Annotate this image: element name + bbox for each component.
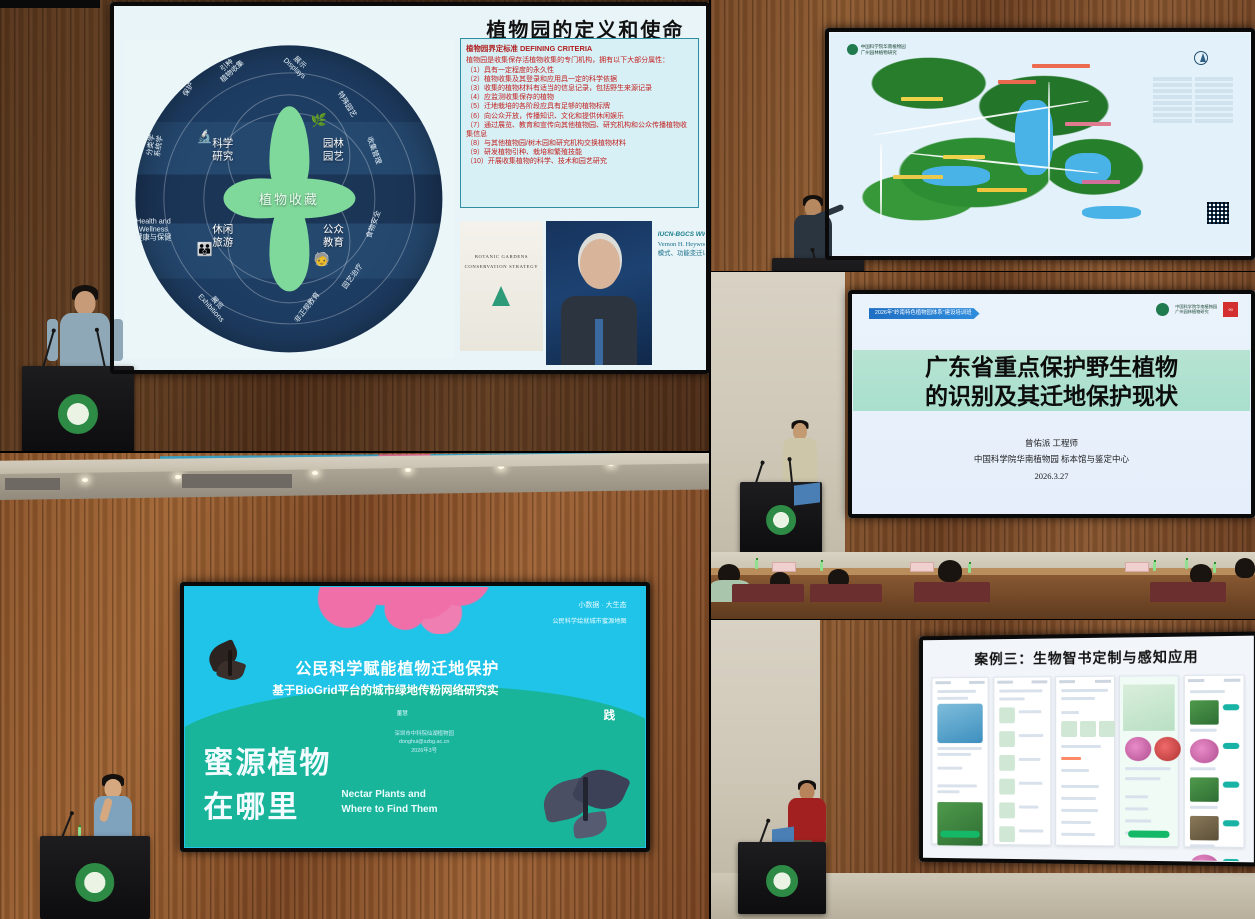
- screen-slide-definition: 植物园的定义和使命 植物收藏 科学研究: [110, 2, 710, 374]
- quadrant-education: 公众教育: [323, 223, 344, 249]
- slide4-date: 2026年3号: [369, 747, 479, 755]
- map-site-label: [901, 97, 943, 101]
- screen-case-three: 案例三：生物智书定制与感知应用: [919, 632, 1255, 867]
- criteria-item: （7）通过展览、教育和宣传向其他植物园、研究机构和公众传播植物收集信息: [466, 121, 693, 139]
- species-thumb: [999, 827, 1015, 843]
- phone-map-view: [1123, 685, 1175, 732]
- presentation-date: 2026.3.27: [853, 468, 1250, 485]
- collage-seam-vertical: [709, 0, 711, 919]
- ceiling-light: [82, 478, 88, 482]
- species-thumb: [999, 755, 1015, 771]
- map-site-label: [943, 155, 985, 159]
- slide4-heading: 公民科学赋能植物迁地保护: [295, 655, 499, 679]
- slide4-meta: 深圳市中科院仙湖植物园 donghui@szbg.ac.cn 2026年3号: [369, 730, 479, 755]
- logo-mark: [847, 44, 858, 55]
- podium-bottom-right: [738, 842, 826, 914]
- butterfly-icon-left: [208, 644, 260, 688]
- compass-icon: [1194, 51, 1208, 65]
- flower-photo: [1125, 737, 1151, 761]
- phone-mockup-species-list[interactable]: [993, 677, 1051, 846]
- collage-seam-horizontal-left: [0, 451, 710, 453]
- speaker-head: [75, 291, 96, 315]
- slide-title: 广东省重点保护野生植物 的识别及其迁地保护现状: [853, 353, 1250, 412]
- identify-result: [1062, 721, 1078, 737]
- panel-bottom-left: 小数据 · 大生态 公民科学绘就城市蜜源地图 公民科学赋能植物迁地保护 基于Bi…: [0, 452, 710, 919]
- ceiling-vent: [182, 474, 292, 488]
- criteria-item: （6）向公众开放，传播知识、文化和提供休闲娱乐: [466, 112, 693, 121]
- ceiling-light: [405, 468, 411, 472]
- phone-mockup-map-record[interactable]: [1119, 676, 1179, 847]
- criteria-item: （8）与其他植物园/树木园和研究机构交换植物材料: [466, 139, 693, 148]
- logo-text: 中国科学院华南植物园广州园林植物研究: [861, 44, 906, 55]
- map-site-label: [1032, 64, 1091, 68]
- slide1-diagram: 植物收藏 科学研究 园林园艺 休闲旅游 公众教育 🔬 🌿 👪 🧓 引种植物收集 …: [124, 40, 454, 359]
- collection-photo: [1190, 778, 1219, 803]
- diagram-center-label: 植物收藏: [259, 189, 319, 208]
- slide4-subheading-tail: 践: [604, 707, 616, 723]
- ring-label-taxonomy: 分类学系统学: [146, 134, 165, 158]
- phone-mockup-row: [932, 675, 1244, 848]
- anniversary-badge-icon: 90: [1223, 302, 1238, 317]
- qr-code-icon: [1207, 202, 1229, 224]
- chair-back: [810, 584, 882, 602]
- laptop-screen: [794, 482, 820, 505]
- map-legend: [1153, 77, 1233, 125]
- map-site-label: [1065, 122, 1111, 126]
- caption-text: Vernon H. Heywood（1927-）植物园历史、发展阶段与模式、功能…: [658, 241, 705, 258]
- criteria-item: （4）应监测收集保存的植物: [466, 93, 693, 102]
- chair-back: [914, 582, 990, 602]
- criteria-item: （10）开展收集植物的科学、技术和园艺研究: [466, 157, 693, 166]
- collection-photo: [1190, 739, 1219, 763]
- audience-member: [938, 560, 962, 582]
- criteria-item: （2）植物收集及其登录和应用具一定的科学依据: [466, 75, 693, 84]
- diagram-outer-circle: 植物收藏 科学研究 园林园艺 休闲旅游 公众教育 🔬 🌿 👪 🧓 引种植物收集 …: [135, 45, 442, 352]
- training-ribbon: 2026年"岭南特色植物园体系"建设培训班: [869, 308, 980, 319]
- heywood-photo: [546, 221, 652, 366]
- map-site-label: [998, 80, 1036, 84]
- map-path-4: [1048, 82, 1050, 184]
- flower-photo: [1154, 737, 1180, 761]
- water-bottle: [1213, 564, 1216, 573]
- microscope-icon: 🔬: [197, 128, 213, 144]
- slide4-affiliation: 深圳市中科院仙湖植物园: [369, 730, 479, 738]
- criteria-heading: 植物园界定标准 DEFINING CRITERIA: [466, 43, 693, 54]
- slide4-corner-top: 小数据 · 大生态: [578, 600, 626, 610]
- quadrant-leisure: 休闲旅游: [212, 223, 233, 249]
- screen-nectar-plants: 小数据 · 大生态 公民科学绘就城市蜜源地图 公民科学赋能植物迁地保护 基于Bi…: [180, 582, 650, 852]
- flower-blob-decoration: [305, 587, 498, 634]
- phone-mockup-identify[interactable]: [1056, 676, 1115, 846]
- collection-photo: [1190, 816, 1219, 841]
- slide4-subheading: 基于BioGrid平台的城市绿地传粉网络研究实: [272, 682, 498, 698]
- phone-mockup-feed[interactable]: [932, 677, 989, 844]
- leaf-icon: 🌿: [311, 113, 327, 129]
- audience-member: [1190, 564, 1212, 584]
- slide4-author: 董慧: [397, 709, 408, 717]
- ceiling-slab: [0, 0, 100, 8]
- criteria-list: （1）具有一定程度的永久性 （2）植物收集及其登录和应用具一定的科学依据 （3）…: [466, 66, 693, 167]
- water-bottle: [755, 560, 758, 569]
- criteria-lead: 植物园是收集保存活植物收集的专门机构，拥有以下大部分属性：: [466, 55, 693, 65]
- collage-seam-horizontal-right-2: [710, 619, 1255, 620]
- water-bottle: [1153, 562, 1156, 571]
- portrait-tie: [595, 319, 603, 365]
- slide-logos: 中国科学院华南植物园广州园林植物研究 90: [1156, 302, 1238, 317]
- ceiling-light: [312, 471, 318, 475]
- species-thumb: [999, 803, 1015, 819]
- phone-submit-button: [1128, 830, 1170, 837]
- portrait-head: [580, 239, 620, 288]
- slide4-big-line2: 在哪里: [203, 782, 299, 826]
- criteria-item: （5）迁地栽培的各阶段应具有足够的植物标牌: [466, 102, 693, 111]
- caption-source: IUCN-BGCS WWF, 1989: [658, 231, 705, 238]
- collection-photo: [1190, 701, 1219, 725]
- slide4-english-line1: Nectar Plants and: [341, 787, 437, 802]
- action-pill: [1223, 859, 1240, 861]
- photo-caption: IUCN-BGCS WWF, 1989 Vernon H. Heywood（19…: [658, 231, 705, 258]
- collection-photo: [1190, 855, 1219, 862]
- slide-title-line2: 的识别及其迁地保护现状: [853, 382, 1250, 411]
- book-title-line1: BOTANIC GARDENS: [460, 254, 543, 259]
- podium-bottom-left: [40, 836, 150, 919]
- map-site-label: [977, 188, 1027, 192]
- action-pill: [1223, 705, 1240, 711]
- slide5-title: 案例三：生物智书定制与感知应用: [924, 646, 1253, 670]
- map-path-3: [880, 144, 882, 219]
- name-placard: [910, 562, 934, 572]
- phone-hero-image: [938, 704, 984, 744]
- water-bottle: [78, 827, 81, 836]
- ceiling-vent: [5, 478, 60, 490]
- map-stream: [1082, 206, 1141, 219]
- chair-back: [732, 584, 804, 602]
- panel-top-left: 植物园的定义和使命 植物收藏 科学研究: [0, 0, 710, 452]
- tree-icon: [492, 286, 510, 306]
- audience-member: [1235, 558, 1255, 578]
- cas-logo-icon: [1156, 303, 1169, 316]
- map-site-label: [893, 175, 943, 179]
- screen-title-slide: 2026年"岭南特色植物园体系"建设培训班 中国科学院华南植物园广州园林植物研究…: [848, 290, 1255, 518]
- collage-root: 植物园的定义和使命 植物收藏 科学研究: [0, 0, 1255, 919]
- criteria-item: （1）具有一定程度的永久性: [466, 66, 693, 75]
- ring-label-intro: 引种植物收集: [213, 53, 245, 85]
- podium-top-left: [22, 366, 134, 452]
- slide-subtitle: 曾佑派 工程师 中国科学院华南植物园 标本馆与鉴定中心 2026.3.27: [853, 435, 1250, 485]
- slide4-email: donghui@szbg.ac.cn: [369, 738, 479, 746]
- book-title-line2: CONSERVATION STRATEGY: [460, 264, 543, 269]
- collage-seam-horizontal-right: [710, 271, 1255, 272]
- quadrant-research: 科学研究: [212, 137, 233, 163]
- identify-result: [1080, 721, 1096, 737]
- water-bottle: [1185, 560, 1188, 569]
- slide4-corner-sub: 公民科学绘就城市蜜源地图: [552, 616, 626, 625]
- water-bottle: [820, 562, 823, 571]
- slide4-english: Nectar Plants and Where to Find Them: [341, 787, 437, 817]
- butterfly-icon-right: [543, 769, 631, 839]
- speaker-arm-right: [112, 319, 123, 361]
- species-thumb: [999, 708, 1015, 724]
- action-pill: [1223, 821, 1240, 827]
- ring-label-health: Health andWellness健康与保健: [135, 217, 171, 242]
- species-thumb: [999, 732, 1015, 748]
- ring-label-conservation: 保护: [182, 81, 196, 98]
- slide1-criteria-box: 植物园界定标准 DEFINING CRITERIA 植物园是收集保存活植物收集的…: [460, 38, 699, 208]
- action-pill: [1223, 743, 1240, 749]
- species-thumb: [999, 779, 1015, 795]
- phone-photo: [938, 802, 984, 846]
- ceiling-light: [175, 475, 181, 479]
- slide-title-line1: 广东省重点保护野生植物: [853, 353, 1250, 382]
- criteria-item: （3）收集的植物材料有适当的信息记录，包括野生来源记录: [466, 84, 693, 93]
- speaker-arm-left: [47, 319, 58, 361]
- water-bottle: [968, 564, 971, 573]
- phone-action-button: [940, 830, 980, 837]
- book-cover-image: BOTANIC GARDENS CONSERVATION STRATEGY: [460, 221, 543, 351]
- slide4-english-line2: Where to Find Them: [341, 802, 437, 817]
- panel-bottom-right: 案例三：生物智书定制与感知应用: [710, 620, 1255, 919]
- name-placard: [1125, 562, 1149, 572]
- family-icon: 👪: [197, 242, 213, 258]
- cas-logo-text: 中国科学院华南植物园广州园林植物研究: [1175, 304, 1217, 315]
- presenter-affiliation: 中国科学院华南植物园 标本馆与鉴定中心: [853, 451, 1250, 468]
- panel-middle-right: 2026年"岭南特色植物园体系"建设培训班 中国科学院华南植物园广州园林植物研究…: [710, 272, 1255, 620]
- presenter-name: 曾佑派 工程师: [853, 435, 1250, 452]
- identify-result: [1099, 721, 1115, 737]
- child-icon: 🧓: [314, 251, 330, 267]
- map-canvas: 中国科学院华南植物园广州园林植物研究: [830, 33, 1250, 255]
- name-placard: [772, 562, 796, 572]
- screen-garden-map: 中国科学院华南植物园广州园林植物研究: [825, 28, 1255, 260]
- slide4-big-line1: 蜜源植物: [203, 738, 331, 782]
- phone-mockup-collection[interactable]: [1183, 675, 1244, 848]
- map-institute-logo: 中国科学院华南植物园广州园林植物研究: [847, 44, 906, 55]
- quadrant-horticulture: 园林园艺: [323, 137, 344, 163]
- criteria-item: （9）研发植物引种、栽培和繁殖技能: [466, 148, 693, 157]
- action-pill: [1223, 782, 1240, 788]
- map-site-label: [1082, 180, 1120, 184]
- chair-back: [1150, 582, 1226, 602]
